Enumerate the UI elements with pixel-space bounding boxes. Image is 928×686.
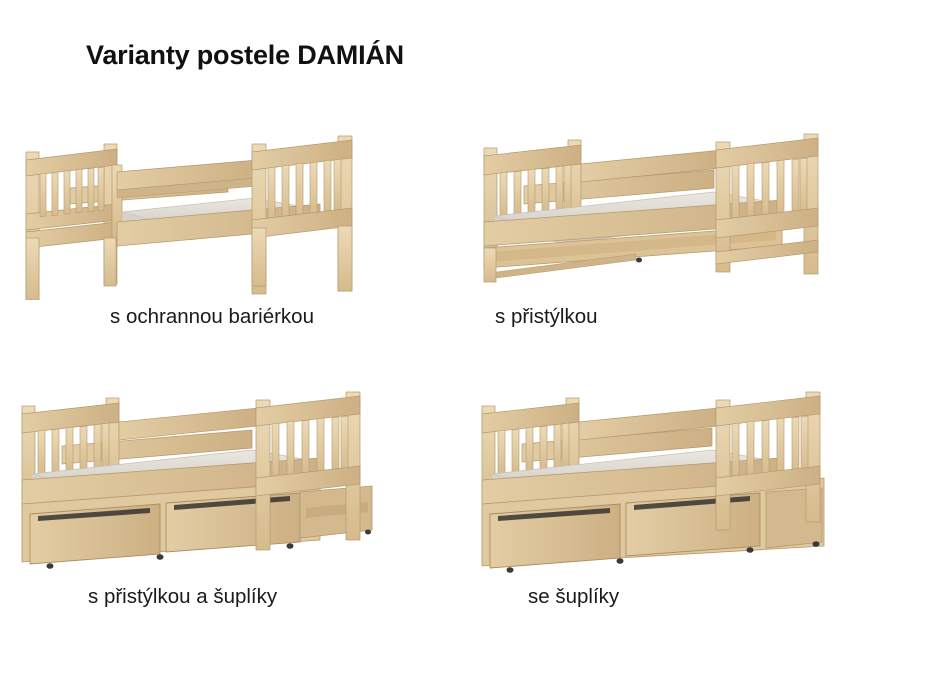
variant-caption-safety-rail: s ochrannou bariérkou — [110, 305, 314, 329]
variant-card-safety-rail: s ochrannou bariérkou — [0, 120, 464, 340]
variant-caption-trundle: s přistýlkou — [495, 305, 598, 329]
caster-wheel-icon — [287, 543, 294, 549]
caster-wheel-icon — [365, 530, 371, 535]
variant-card-drawers: se šuplíky — [464, 380, 928, 625]
bed-illustration-trundle — [464, 120, 844, 305]
caster-wheel-icon — [507, 567, 514, 573]
caster-wheel-icon — [636, 258, 642, 263]
caster-wheel-icon — [47, 563, 54, 569]
bed-with-safety-rail-svg — [0, 120, 380, 300]
bed-with-trundle-and-drawers-svg — [0, 380, 390, 580]
caster-wheel-icon — [157, 554, 164, 560]
page-title: Varianty postele DAMIÁN — [86, 40, 404, 71]
bed-illustration-drawers — [464, 380, 854, 575]
bed-illustration-safety-rail — [0, 120, 380, 300]
variant-card-trundle: s přistýlkou — [464, 120, 928, 340]
caster-wheel-icon — [617, 558, 624, 564]
product-variants-page: Varianty postele DAMIÁN — [0, 0, 928, 686]
caster-wheel-icon — [813, 541, 820, 547]
bed-with-trundle-svg — [464, 120, 844, 305]
bed-with-drawers-svg — [464, 380, 854, 575]
variant-caption-trundle-drawers: s přistýlkou a šuplíky — [88, 585, 277, 609]
variant-caption-drawers: se šuplíky — [528, 585, 619, 609]
variant-card-trundle-drawers: s přistýlkou a šuplíky — [0, 380, 464, 625]
caster-wheel-icon — [747, 547, 754, 553]
bed-illustration-trundle-drawers — [0, 380, 390, 580]
